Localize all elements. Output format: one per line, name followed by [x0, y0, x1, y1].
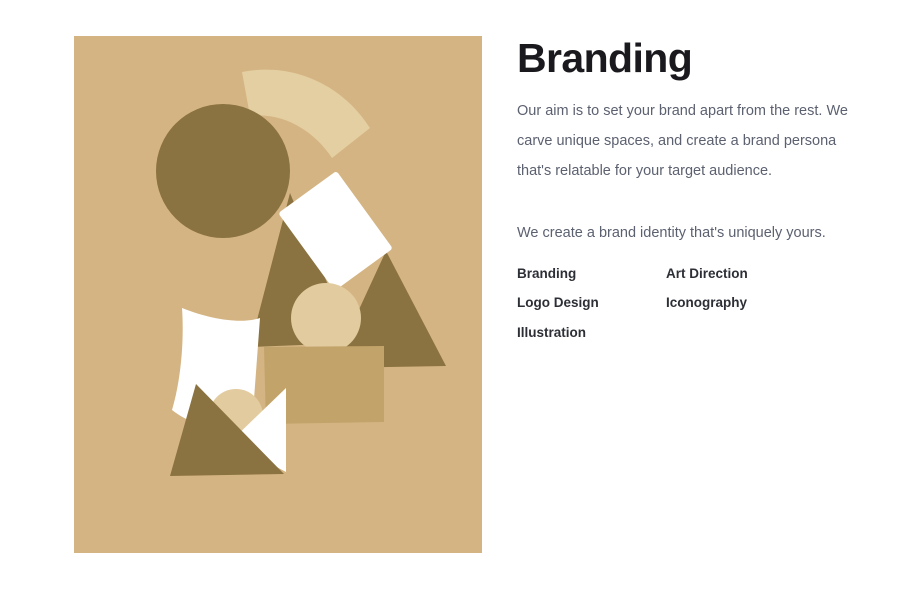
services-list: Branding Art Direction Logo Design Icono…	[517, 266, 877, 343]
artwork-panel	[74, 36, 482, 553]
branding-service-page: Branding Our aim is to set your brand ap…	[0, 0, 900, 589]
page-title: Branding	[517, 36, 877, 82]
service-item-iconography: Iconography	[666, 295, 877, 312]
cream-circle-upper-shape	[291, 283, 361, 353]
service-item-logo-design: Logo Design	[517, 295, 666, 312]
content-column: Branding Our aim is to set your brand ap…	[517, 36, 877, 342]
service-item-branding: Branding	[517, 266, 666, 283]
intro-paragraph: Our aim is to set your brand apart from …	[517, 96, 862, 186]
service-item-art-direction: Art Direction	[666, 266, 877, 283]
service-item-illustration: Illustration	[517, 325, 666, 342]
tagline-text: We create a brand identity that's unique…	[517, 222, 877, 245]
dark-circle-primary	[156, 104, 290, 238]
artwork-stage	[74, 36, 482, 553]
